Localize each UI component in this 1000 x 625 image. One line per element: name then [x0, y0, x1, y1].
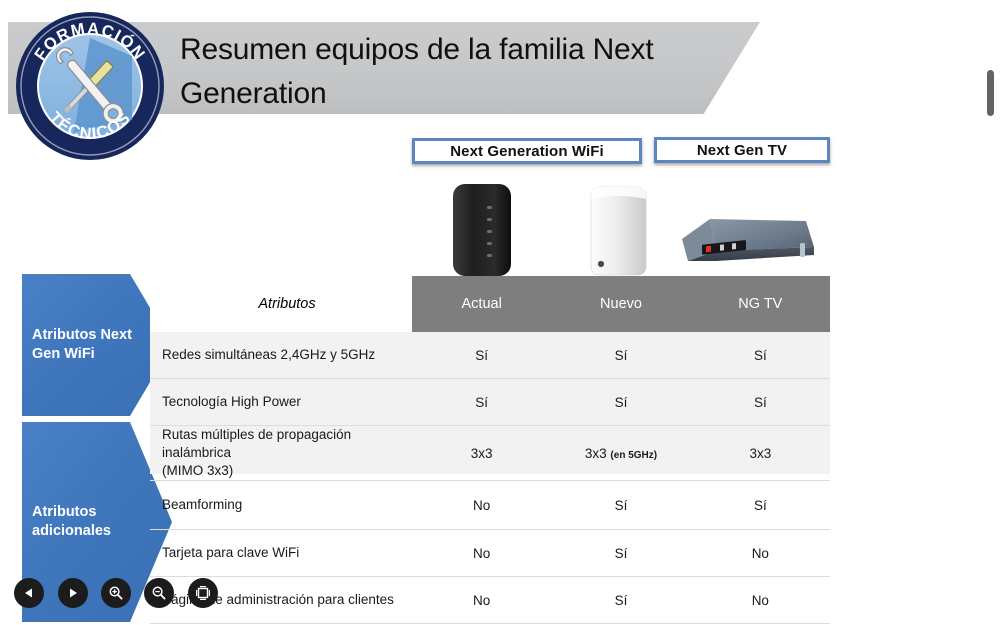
- row-value-actual: 3x3: [412, 426, 551, 481]
- column-header-ngtv: NG TV: [691, 276, 830, 332]
- table-row: Rutas múltiples de propagación inalámbri…: [150, 426, 830, 481]
- row-value-ngtv: Sí: [691, 481, 830, 530]
- zoom-in-button[interactable]: [101, 578, 131, 608]
- device-image-router-nuevo: [587, 185, 651, 282]
- zoom-out-button[interactable]: [144, 578, 174, 608]
- table-row: Beamforming No Sí Sí: [150, 481, 830, 530]
- row-value-ngtv: Sí: [691, 332, 830, 379]
- device-image-set-top-box-ngtv: [680, 215, 816, 274]
- table-header-row: Atributos Actual Nuevo NG TV: [150, 276, 830, 332]
- row-attribute: Beamforming: [150, 481, 412, 530]
- column-header-actual: Actual: [412, 276, 551, 332]
- row-value-nuevo-note: (en 5GHz): [610, 450, 657, 461]
- table-row: Tarjeta para clave WiFi No Sí No: [150, 530, 830, 577]
- table-row: Página de administración para clientes N…: [150, 577, 830, 624]
- row-value-nuevo: Sí: [551, 577, 690, 624]
- table-row: Redes simultáneas 2,4GHz y 5GHz Sí Sí Sí: [150, 332, 830, 379]
- row-attribute: Tecnología High Power: [150, 379, 412, 426]
- column-header-attributes: Atributos: [150, 276, 412, 332]
- vertical-scrollbar-thumb[interactable]: [987, 70, 994, 116]
- tab-next-gen-tv[interactable]: Next Gen TV: [654, 137, 830, 163]
- row-value-nuevo-main: 3x3: [585, 446, 607, 461]
- row-value-actual: Sí: [412, 379, 551, 426]
- row-value-actual: No: [412, 481, 551, 530]
- row-value-nuevo: 3x3 (en 5GHz): [551, 426, 690, 481]
- comparison-table: Atributos Actual Nuevo NG TV Redes simul…: [150, 276, 830, 624]
- page-title: Resumen equipos de la familia Next Gener…: [180, 28, 780, 116]
- row-value-actual: No: [412, 577, 551, 624]
- next-slide-button[interactable]: [58, 578, 88, 608]
- triangle-left-icon: [23, 587, 35, 599]
- fullscreen-button[interactable]: [188, 578, 218, 608]
- magnifier-plus-icon: [108, 585, 124, 601]
- slide-canvas: Resumen equipos de la familia Next Gener…: [0, 0, 1000, 625]
- row-attribute: Tarjeta para clave WiFi: [150, 530, 412, 577]
- row-value-nuevo: Sí: [551, 481, 690, 530]
- row-attribute: Rutas múltiples de propagación inalámbri…: [150, 426, 412, 481]
- device-image-router-actual: [447, 182, 517, 283]
- row-value-nuevo: Sí: [551, 379, 690, 426]
- row-value-ngtv: Sí: [691, 379, 830, 426]
- row-attribute: Redes simultáneas 2,4GHz y 5GHz: [150, 332, 412, 379]
- row-value-actual: No: [412, 530, 551, 577]
- formacion-tecnicos-logo: FORMACIÓN TÉCNICOS: [14, 4, 166, 164]
- table-row: Tecnología High Power Sí Sí Sí: [150, 379, 830, 426]
- expand-icon: [196, 586, 210, 600]
- vertical-scrollbar-track[interactable]: [986, 0, 998, 625]
- previous-slide-button[interactable]: [14, 578, 44, 608]
- column-header-nuevo: Nuevo: [551, 276, 690, 332]
- row-value-ngtv: No: [691, 530, 830, 577]
- magnifier-minus-icon: [151, 585, 167, 601]
- tab-next-generation-wifi[interactable]: Next Generation WiFi: [412, 138, 642, 164]
- triangle-right-icon: [67, 587, 79, 599]
- row-value-nuevo: Sí: [551, 530, 690, 577]
- row-value-ngtv: No: [691, 577, 830, 624]
- row-value-nuevo: Sí: [551, 332, 690, 379]
- row-value-actual: Sí: [412, 332, 551, 379]
- row-value-ngtv: 3x3: [691, 426, 830, 481]
